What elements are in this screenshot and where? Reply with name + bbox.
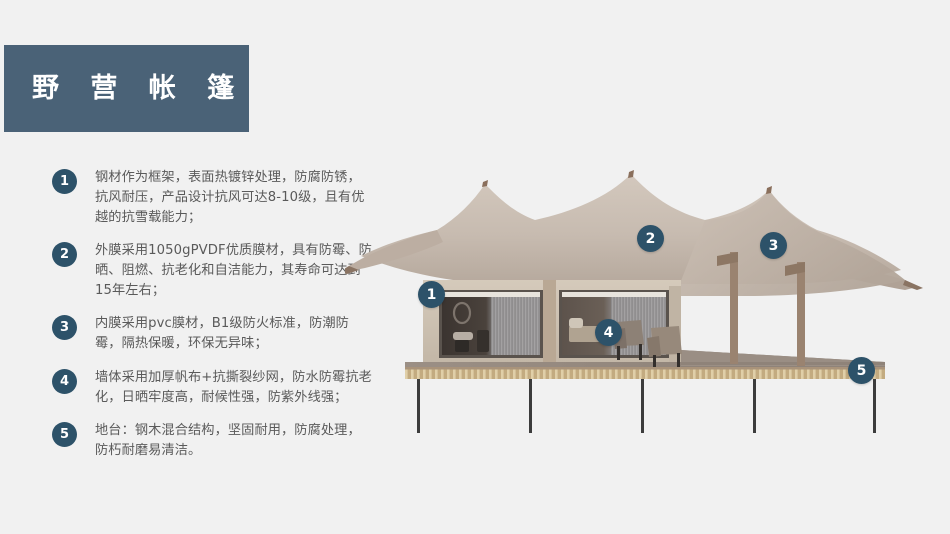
vanity-shape: [455, 340, 469, 352]
deck-leg-1: [417, 379, 420, 433]
sink-shape: [453, 332, 473, 340]
center-post: [543, 280, 556, 362]
feature-badge-3: 3: [52, 315, 77, 340]
feature-text-4: 墙体采用加厚帆布+抗撕裂纱网，防水防霉抗老化，日晒牢度高，耐候性强，防紫外线强；: [95, 368, 372, 408]
image-marker-2[interactable]: 2: [637, 225, 664, 252]
slide-canvas: 野 营 帐 篷 1 钢材作为框架，表面热镀锌处理，防腐防锈，抗风耐压，产品设计抗…: [0, 0, 950, 534]
list-item: 1 钢材作为框架，表面热镀锌处理，防腐防锈，抗风耐压，产品设计抗风可达8-10级…: [52, 168, 372, 228]
image-marker-3[interactable]: 3: [760, 232, 787, 259]
deck-fascia-top: [405, 367, 885, 370]
title-banner: 野 营 帐 篷: [4, 45, 249, 132]
deck-leg-5: [873, 379, 876, 433]
feature-text-1: 钢材作为框架，表面热镀锌处理，防腐防锈，抗风耐压，产品设计抗风可达8-10级，且…: [95, 168, 372, 228]
window-right-header: [562, 292, 666, 297]
feature-badge-4: 4: [52, 369, 77, 394]
deck-fascia: [405, 369, 885, 379]
feature-text-2: 外膜采用1050gPVDF优质膜材，具有防霉、防晒、阻燃、抗老化和自洁能力，其寿…: [95, 241, 372, 301]
list-item: 5 地台：钢木混合结构，坚固耐用，防腐处理，防朽耐磨易清洁。: [52, 421, 372, 461]
deck-post-left: [730, 252, 738, 364]
deck-post-right: [797, 262, 805, 366]
canopy-right-slope: [675, 190, 905, 296]
feature-text-5: 地台：钢木混合结构，坚固耐用，防腐处理，防朽耐磨易清洁。: [95, 421, 372, 461]
list-item: 3 内膜采用pvc膜材，B1级防火标准，防潮防霉，隔热保暖，环保无异味；: [52, 314, 372, 354]
deck-leg-2: [529, 379, 532, 433]
list-item: 2 外膜采用1050gPVDF优质膜材，具有防霉、防晒、阻燃、抗老化和自洁能力，…: [52, 241, 372, 301]
deck-leg-3: [641, 379, 644, 433]
feature-badge-5: 5: [52, 422, 77, 447]
list-item: 4 墙体采用加厚帆布+抗撕裂纱网，防水防霉抗老化，日晒牢度高，耐候性强，防紫外线…: [52, 368, 372, 408]
feature-badge-1: 1: [52, 169, 77, 194]
curtain-left: [491, 297, 540, 355]
bin-shape: [477, 330, 489, 352]
feature-badge-2: 2: [52, 242, 77, 267]
image-marker-4[interactable]: 4: [595, 319, 622, 346]
pillow-shape: [569, 318, 583, 328]
feature-text-3: 内膜采用pvc膜材，B1级防火标准，防潮防霉，隔热保暖，环保无异味；: [95, 314, 372, 354]
image-marker-1[interactable]: 1: [418, 281, 445, 308]
image-marker-5[interactable]: 5: [848, 357, 875, 384]
peak-tip-left: [482, 180, 488, 187]
window-left-header: [442, 292, 540, 297]
page-title: 野 营 帐 篷: [32, 75, 245, 102]
feature-list: 1 钢材作为框架，表面热镀锌处理，防腐防锈，抗风耐压，产品设计抗风可达8-10级…: [52, 168, 372, 474]
deck-leg-4: [753, 379, 756, 433]
